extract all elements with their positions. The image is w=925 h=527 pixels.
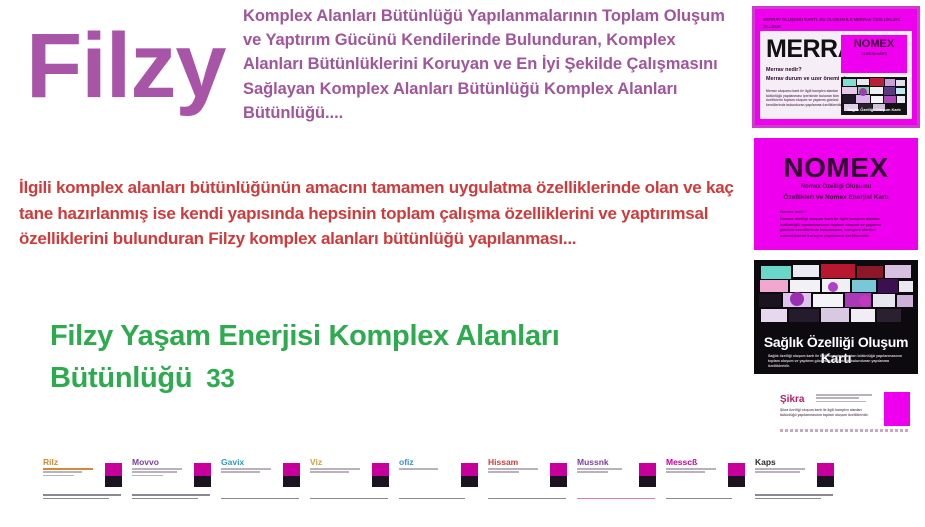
thumbnail-card[interactable]: Movvo [129, 452, 215, 504]
rule-line [488, 471, 519, 473]
rule-line [666, 468, 716, 470]
card-nomex-subtitle-1: Nomex Özelliği Oluşumu [754, 184, 918, 190]
collage-mosaic-icon [757, 263, 915, 333]
card-sikra-title: Şikra [780, 394, 804, 405]
thumbnail-swatch [728, 455, 745, 487]
thumbnail-card[interactable]: Viz [307, 452, 393, 504]
card-sikra-footer-rule [780, 429, 910, 432]
thumbnail-rules [666, 468, 722, 475]
thumbnail-title: Mussnk [577, 457, 609, 467]
rule-line [43, 471, 82, 473]
thumbnail-swatch [550, 455, 567, 487]
card-merrav-nomex-badge: NOMEX OLUŞUM KARTI [841, 35, 907, 73]
thumbnail-swatch [372, 455, 389, 487]
poster-canvas: Filzy Komplex Alanları Bütünlüğü Yapılan… [0, 0, 925, 527]
thumbnail-rules [132, 468, 188, 478]
thumbnail-title: Gavix [221, 457, 244, 467]
thumbnail-rules [310, 468, 366, 475]
thumbnail-footer [221, 498, 299, 501]
thumbnail-swatch [461, 455, 478, 487]
thumbnail-swatch [639, 455, 656, 487]
rule-line [816, 401, 866, 403]
footer-line [310, 498, 388, 500]
thumbnail-title: Hissam [488, 457, 518, 467]
thumbnail-card[interactable]: ofiz [396, 452, 482, 504]
rule-line [43, 475, 74, 477]
card-saglik-collage [757, 263, 915, 333]
thumbnail-title: Rilz [43, 457, 58, 467]
thumbnail-title: Movvo [132, 457, 159, 467]
footer-line [132, 494, 210, 496]
card-sikra-rule-lines [816, 394, 878, 404]
thumbnail-rules [221, 468, 277, 475]
rule-line [755, 468, 805, 470]
thumbnail-card[interactable]: Messcß [663, 452, 749, 504]
thumbnail-title: Kaps [755, 457, 776, 467]
red-body-paragraph: İlgili komplex alanları bütünlüğünün ama… [19, 175, 734, 252]
card-nomex-kicker: Nomex nedir? [780, 209, 807, 214]
rule-line [221, 468, 271, 470]
card-sikra-color-swatch [884, 392, 910, 426]
footer-line [43, 494, 121, 496]
card-nomex[interactable]: NOMEX Nomex Özelliği Oluşumu Özellikleri… [754, 138, 918, 250]
footer-line [399, 498, 465, 500]
rule-line [310, 471, 349, 473]
rule-line [816, 394, 872, 396]
footer-line [755, 494, 833, 496]
thumbnail-title: Viz [310, 457, 322, 467]
thumbnail-card[interactable]: Mussnk [574, 452, 660, 504]
card-merrav-collage-caption: Sağlık Özelliği Oluşum Kartı [841, 107, 907, 112]
green-heading-count: 33 [206, 363, 234, 393]
thumbnail-footer [399, 498, 477, 501]
card-nomex-subtitle-2: Özellikleri ve Nomex Enerjisi Kartı [754, 194, 918, 201]
card-sidebar: MERRAV OLUŞUMU KARTI. BU OLUŞUM İLE MERR… [748, 4, 922, 448]
thumbnail-swatch [283, 455, 300, 487]
card-merrav-strip-text: MERRAV OLUŞUMU KARTI. BU OLUŞUM İLE MERR… [760, 15, 912, 31]
thumbnail-rules [577, 468, 633, 475]
thumbnail-footer [488, 498, 566, 501]
rule-line [577, 468, 622, 470]
brand-wordmark: Filzy [26, 6, 236, 126]
card-nomex-body: Nomex özelliği oluşum kartı ile ilgili k… [780, 216, 892, 238]
rule-line [221, 471, 260, 473]
footer-line [577, 498, 655, 500]
rule-line [666, 471, 705, 473]
bottom-thumbnail-strip: Rilz Movvo [40, 452, 760, 508]
thumbnail-swatch [194, 455, 211, 487]
card-saglik[interactable]: Sağlık Özelliği Oluşum Kartı Sağlık özel… [754, 260, 918, 374]
card-merrav[interactable]: MERRAV OLUŞUMU KARTI. BU OLUŞUM İLE MERR… [752, 6, 920, 128]
thumbnail-swatch [817, 455, 834, 487]
thumbnail-title: ofiz [399, 457, 414, 467]
footer-line [43, 498, 109, 500]
rule-line [132, 471, 177, 473]
card-merrav-subtitle-1: Merrav nedir? [766, 67, 802, 73]
thumbnail-footer [577, 498, 655, 501]
footer-line [132, 498, 198, 500]
thumbnail-footer [310, 498, 388, 501]
thumbnail-footer [132, 494, 210, 501]
green-heading: Filzy Yaşam Enerjisi Komplex Alanları Bü… [50, 315, 740, 399]
rule-line [488, 468, 538, 470]
card-merrav-inner: MERRAV OLUŞUMU KARTI. BU OLUŞUM İLE MERR… [760, 15, 912, 119]
thumbnail-footer [755, 494, 833, 501]
card-nomex-title: NOMEX [754, 152, 918, 184]
rule-line [310, 468, 360, 470]
rule-line [132, 475, 163, 477]
thumbnail-footer [43, 494, 121, 501]
rule-line [577, 471, 608, 473]
card-merrav-badge-title: NOMEX [854, 38, 894, 50]
rule-line [755, 471, 800, 473]
footer-line [488, 498, 566, 500]
thumbnail-swatch [105, 455, 122, 487]
thumbnail-rules [43, 468, 99, 478]
purple-heading-paragraph: Komplex Alanları Bütünlüğü Yapılanmaları… [243, 4, 733, 125]
thumbnail-rules [488, 468, 544, 475]
thumbnail-card[interactable]: Hissam [485, 452, 571, 504]
thumbnail-title: Messcß [666, 457, 697, 467]
rule-line [132, 468, 182, 470]
rule-line [816, 397, 859, 399]
thumbnail-rules [755, 468, 811, 475]
rule-line [399, 468, 438, 470]
footer-line [221, 498, 299, 500]
thumbnail-card[interactable]: Rilz [40, 452, 126, 504]
card-saglik-body: Sağlık özelliği oluşum kartı ile ilgili … [768, 354, 904, 369]
card-merrav-badge-subtitle: OLUŞUM KARTI [841, 50, 907, 57]
rule-line [43, 468, 93, 470]
footer-line [755, 498, 821, 500]
card-merrav-collage-thumbnail: Sağlık Özelliği Oluşum Kartı [841, 77, 907, 115]
green-heading-text: Filzy Yaşam Enerjisi Komplex Alanları Bü… [50, 320, 560, 394]
card-sikra[interactable]: Şikra Şikra özelliği oluşum kartı ile il… [778, 386, 914, 436]
card-sikra-body: Şikra özelliği oluşum kartı ile ilgili k… [780, 408, 872, 417]
thumbnail-card[interactable]: Kaps [752, 452, 838, 504]
thumbnail-card[interactable]: Gavix [218, 452, 304, 504]
thumbnail-rules [399, 468, 455, 471]
thumbnail-footer [666, 498, 744, 501]
footer-line [666, 498, 732, 500]
